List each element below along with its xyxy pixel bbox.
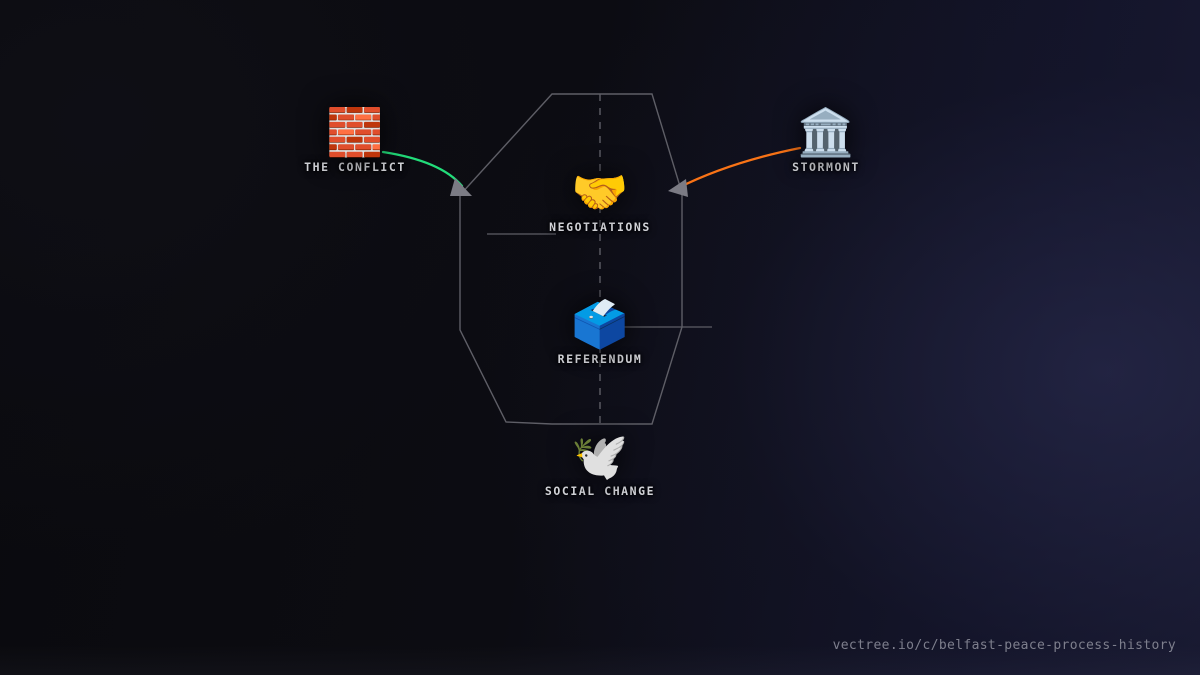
source-url: vectree.io/c/belfast-peace-process-histo…	[833, 638, 1176, 653]
brick-wall-icon: 🧱	[235, 106, 475, 158]
node-label-referendum: REFERENDUM	[480, 352, 720, 366]
dove-icon: 🕊️	[480, 430, 720, 482]
node-label-social-change: SOCIAL CHANGE	[480, 484, 720, 498]
handshake-icon: 🤝	[480, 166, 720, 218]
node-negotiations[interactable]: 🤝 NEGOTIATIONS	[480, 166, 720, 234]
node-referendum[interactable]: 🗳️ REFERENDUM	[480, 298, 720, 366]
concept-graph[interactable]: 🧱 THE CONFLICT 🏛️ STORMONT 🤝 NEGOTIATION…	[0, 0, 1200, 675]
canvas: 🧱 THE CONFLICT 🏛️ STORMONT 🤝 NEGOTIATION…	[0, 0, 1200, 675]
ballot-box-icon: 🗳️	[480, 298, 720, 350]
node-stormont[interactable]: 🏛️ STORMONT	[706, 106, 946, 174]
node-the-conflict[interactable]: 🧱 THE CONFLICT	[235, 106, 475, 174]
node-label-negotiations: NEGOTIATIONS	[480, 220, 720, 234]
node-social-change[interactable]: 🕊️ SOCIAL CHANGE	[480, 430, 720, 498]
edge-octagon-outline	[460, 94, 682, 424]
node-label-the-conflict: THE CONFLICT	[235, 160, 475, 174]
classical-building-icon: 🏛️	[706, 106, 946, 158]
node-label-stormont: STORMONT	[706, 160, 946, 174]
